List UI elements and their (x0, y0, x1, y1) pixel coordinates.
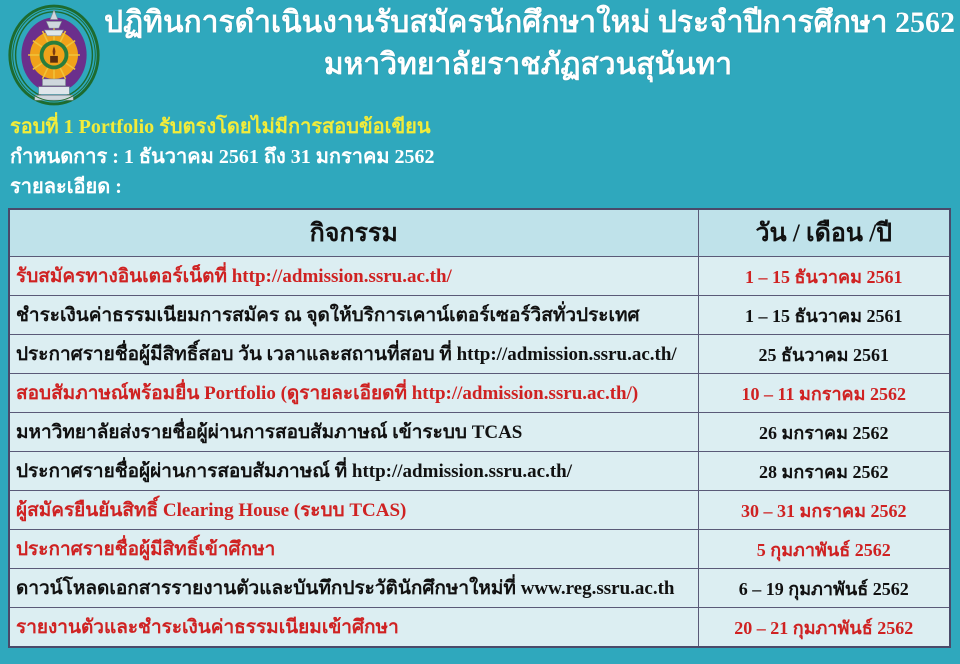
cell-activity: รายงานตัวและชำระเงินค่าธรรมเนียมเข้าศึกษ… (9, 608, 698, 648)
title-line-1: ปฏิทินการดำเนินงานรับสมัครนักศึกษาใหม่ ป… (104, 2, 952, 44)
table-row: มหาวิทยาลัยส่งรายชื่อผู้ผ่านการสอบสัมภาษ… (9, 413, 950, 452)
table-header-row: กิจกรรม วัน / เดือน /ปี (9, 209, 950, 257)
cell-date: 30 – 31 มกราคม 2562 (698, 491, 950, 530)
table-row: ดาวน์โหลดเอกสารรายงานตัวและบันทึกประวัติ… (9, 569, 950, 608)
cell-activity: ประกาศรายชื่อผู้มีสิทธิ์สอบ วัน เวลาและส… (9, 335, 698, 374)
column-header-activity: กิจกรรม (9, 209, 698, 257)
page-header: ปฏิทินการดำเนินงานรับสมัครนักศึกษาใหม่ ป… (0, 0, 960, 105)
page-title: ปฏิทินการดำเนินงานรับสมัครนักศึกษาใหม่ ป… (104, 2, 952, 86)
cell-activity: ดาวน์โหลดเอกสารรายงานตัวและบันทึกประวัติ… (9, 569, 698, 608)
cell-date: 26 มกราคม 2562 (698, 413, 950, 452)
period-label: กำหนดการ : 1 ธันวาคม 2561 ถึง 31 มกราคม … (10, 142, 952, 172)
cell-activity: ประกาศรายชื่อผู้ผ่านการสอบสัมภาษณ์ ที่ h… (9, 452, 698, 491)
table-row: ชำระเงินค่าธรรมเนียมการสมัคร ณ จุดให้บริ… (9, 296, 950, 335)
cell-date: 1 – 15 ธันวาคม 2561 (698, 296, 950, 335)
column-header-date: วัน / เดือน /ปี (698, 209, 950, 257)
cell-activity: ชำระเงินค่าธรรมเนียมการสมัคร ณ จุดให้บริ… (9, 296, 698, 335)
cell-date: 25 ธันวาคม 2561 (698, 335, 950, 374)
table-row: รับสมัครทางอินเตอร์เน็ตที่ http://admiss… (9, 257, 950, 296)
table-row: ประกาศรายชื่อผู้มีสิทธิ์เข้าศึกษา5 กุมภา… (9, 530, 950, 569)
table-row: ผู้สมัครยืนยันสิทธิ์ Clearing House (ระบ… (9, 491, 950, 530)
table-row: สอบสัมภาษณ์พร้อมยื่น Portfolio (ดูรายละเ… (9, 374, 950, 413)
round-label: รอบที่ 1 Portfolio รับตรงโดยไม่มีการสอบข… (10, 112, 952, 142)
cell-activity: มหาวิทยาลัยส่งรายชื่อผู้ผ่านการสอบสัมภาษ… (9, 413, 698, 452)
cell-activity: สอบสัมภาษณ์พร้อมยื่น Portfolio (ดูรายละเ… (9, 374, 698, 413)
subtitle-block: รอบที่ 1 Portfolio รับตรงโดยไม่มีการสอบข… (10, 112, 952, 202)
table-row: ประกาศรายชื่อผู้ผ่านการสอบสัมภาษณ์ ที่ h… (9, 452, 950, 491)
cell-date: 6 – 19 กุมภาพันธ์ 2562 (698, 569, 950, 608)
title-line-2: มหาวิทยาลัยราชภัฏสวนสุนันทา (104, 44, 952, 86)
table-row: รายงานตัวและชำระเงินค่าธรรมเนียมเข้าศึกษ… (9, 608, 950, 648)
cell-activity: ผู้สมัครยืนยันสิทธิ์ Clearing House (ระบ… (9, 491, 698, 530)
table-body: รับสมัครทางอินเตอร์เน็ตที่ http://admiss… (9, 257, 950, 648)
ssru-university-seal-icon (6, 4, 102, 106)
cell-activity: ประกาศรายชื่อผู้มีสิทธิ์เข้าศึกษา (9, 530, 698, 569)
cell-date: 10 – 11 มกราคม 2562 (698, 374, 950, 413)
cell-date: 1 – 15 ธันวาคม 2561 (698, 257, 950, 296)
cell-date: 5 กุมภาพันธ์ 2562 (698, 530, 950, 569)
admission-calendar-page: { "colors": { "background": "#2fa8bd", "… (0, 0, 960, 664)
admission-calendar-table: กิจกรรม วัน / เดือน /ปี รับสมัครทางอินเต… (8, 208, 951, 648)
cell-date: 28 มกราคม 2562 (698, 452, 950, 491)
cell-date: 20 – 21 กุมภาพันธ์ 2562 (698, 608, 950, 648)
cell-activity: รับสมัครทางอินเตอร์เน็ตที่ http://admiss… (9, 257, 698, 296)
table-row: ประกาศรายชื่อผู้มีสิทธิ์สอบ วัน เวลาและส… (9, 335, 950, 374)
calendar-table-wrapper: กิจกรรม วัน / เดือน /ปี รับสมัครทางอินเต… (8, 208, 949, 648)
detail-label: รายละเอียด : (10, 172, 952, 202)
